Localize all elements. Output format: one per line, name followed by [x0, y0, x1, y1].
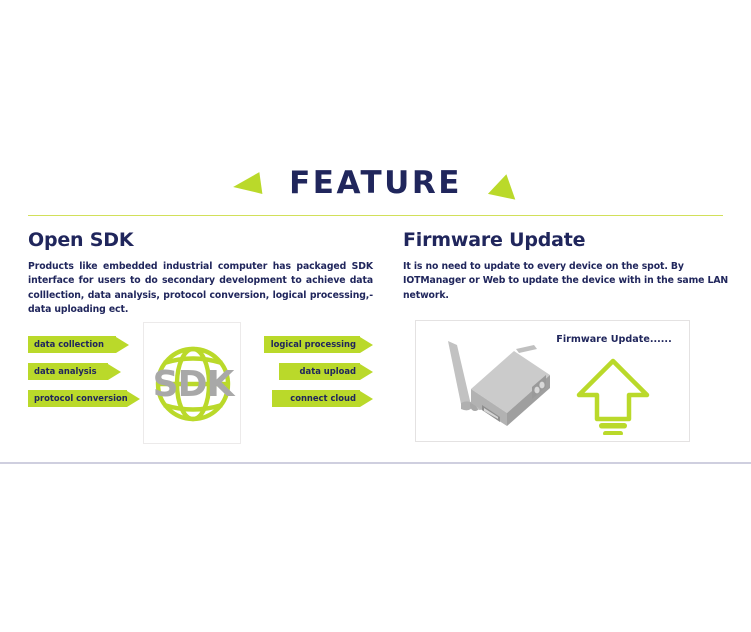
sdk-output-arrow: logical processing [264, 336, 373, 353]
firmware-update-panel: Firmware Update...... [415, 320, 690, 442]
header-divider [28, 215, 723, 216]
sdk-diagram: SDK data collection data analysis protoc… [28, 336, 373, 436]
globe-icon: SDK [144, 323, 242, 445]
feature-header: FEATURE [0, 160, 751, 206]
firmware-update-heading: Firmware Update [403, 230, 733, 252]
arrow-head-icon [360, 364, 373, 380]
sdk-input-arrow: data collection [28, 336, 129, 353]
arrow-label: protocol conversion [34, 394, 128, 402]
open-sdk-body: Products like embedded industrial comput… [28, 260, 373, 318]
arrow-head-icon [127, 391, 140, 407]
feature-page: FEATURE Open SDK Products like embedded … [0, 0, 751, 632]
gateway-device-icon [424, 333, 559, 437]
arrow-head-icon [108, 364, 121, 380]
arrow-head-icon [360, 391, 373, 407]
sdk-input-arrow: data analysis [28, 363, 121, 380]
firmware-update-body: It is no need to update to every device … [403, 260, 733, 303]
bottom-divider [0, 462, 751, 464]
arrow-head-icon [116, 337, 129, 353]
sdk-output-arrows: logical processing data upload connect c… [243, 336, 373, 407]
triangle-left-icon [232, 172, 263, 198]
open-sdk-heading: Open SDK [28, 230, 373, 252]
arrow-head-icon [360, 337, 373, 353]
arrow-label: connect cloud [290, 394, 356, 402]
sdk-output-arrow: data upload [279, 363, 373, 380]
page-title: FEATURE [289, 168, 462, 199]
firmware-update-caption: Firmware Update...... [544, 334, 684, 345]
section-open-sdk: Open SDK Products like embedded industri… [28, 230, 373, 317]
svg-text:SDK: SDK [153, 364, 236, 405]
sdk-center-box: SDK [143, 322, 241, 444]
arrow-label: data upload [300, 367, 356, 375]
arrow-label: logical processing [271, 340, 356, 348]
sdk-input-arrow: protocol conversion [28, 390, 140, 407]
sdk-output-arrow: connect cloud [272, 390, 373, 407]
sdk-input-arrows: data collection data analysis protocol c… [28, 336, 140, 407]
arrow-label: data collection [34, 340, 104, 348]
section-firmware-update: Firmware Update It is no need to update … [403, 230, 733, 303]
upload-arrow-icon [573, 357, 653, 435]
triangle-up-icon [488, 171, 520, 199]
arrow-label: data analysis [34, 367, 97, 375]
